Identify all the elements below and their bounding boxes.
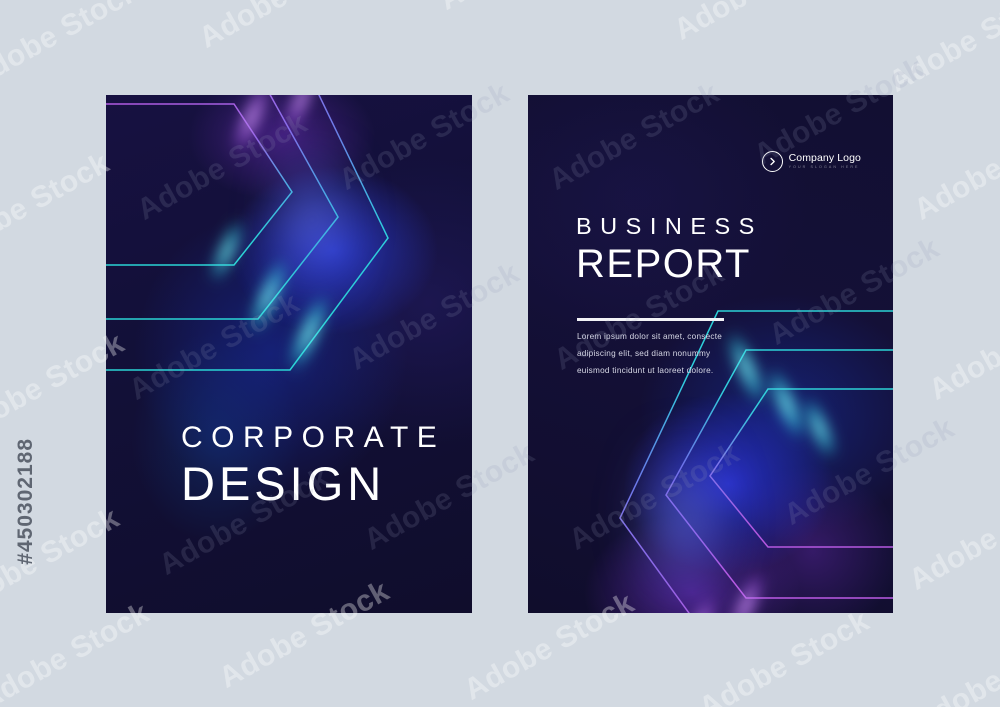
cover-right-title-line2: REPORT — [576, 244, 763, 284]
watermark-text: Adobe Stock — [194, 0, 376, 56]
cover-left-title-block: CORPORATE DESIGN — [181, 423, 445, 507]
cover-left-chevron-graphic — [106, 95, 472, 613]
cover-right-title-line1: BUSINESS — [576, 215, 763, 239]
asset-id-label: #450302188 — [14, 438, 38, 565]
watermark-text: Adobe Stock — [0, 0, 145, 96]
watermark-text: Adobe Stock — [904, 476, 1000, 597]
watermark-text: Adobe Stock — [0, 146, 115, 267]
cover-left-title-line1: CORPORATE — [181, 423, 445, 453]
watermark-text: Adobe Stock — [909, 106, 1000, 227]
cover-right-title-block: BUSINESS REPORT — [576, 215, 763, 284]
company-logo-text: Company Logo YOUR SLOGAN HERE — [789, 153, 861, 170]
watermark-text: Adobe Stock — [669, 0, 851, 48]
cover-left-title-line2: DESIGN — [181, 460, 445, 507]
watermark-text: Adobe Stock — [694, 604, 876, 707]
cover-right-body-text: Lorem ipsum dolor sit amet, consecte adi… — [577, 329, 737, 380]
company-logo-name: Company Logo — [789, 153, 861, 164]
chevron-right-circle-icon — [762, 151, 783, 172]
watermark-text: Adobe Stock — [884, 0, 1000, 100]
cover-corporate-design: CORPORATE DESIGN — [106, 95, 472, 613]
cover-business-report: Company Logo YOUR SLOGAN HERE BUSINESS R… — [528, 95, 893, 613]
watermark-text: Adobe Stock — [434, 0, 616, 18]
company-logo[interactable]: Company Logo YOUR SLOGAN HERE — [762, 151, 861, 172]
watermark-text: Adobe Stock — [924, 286, 1000, 407]
company-logo-tagline: YOUR SLOGAN HERE — [789, 166, 861, 170]
watermark-text: Adobe Stock — [909, 618, 1000, 707]
title-divider-rule — [577, 318, 724, 321]
